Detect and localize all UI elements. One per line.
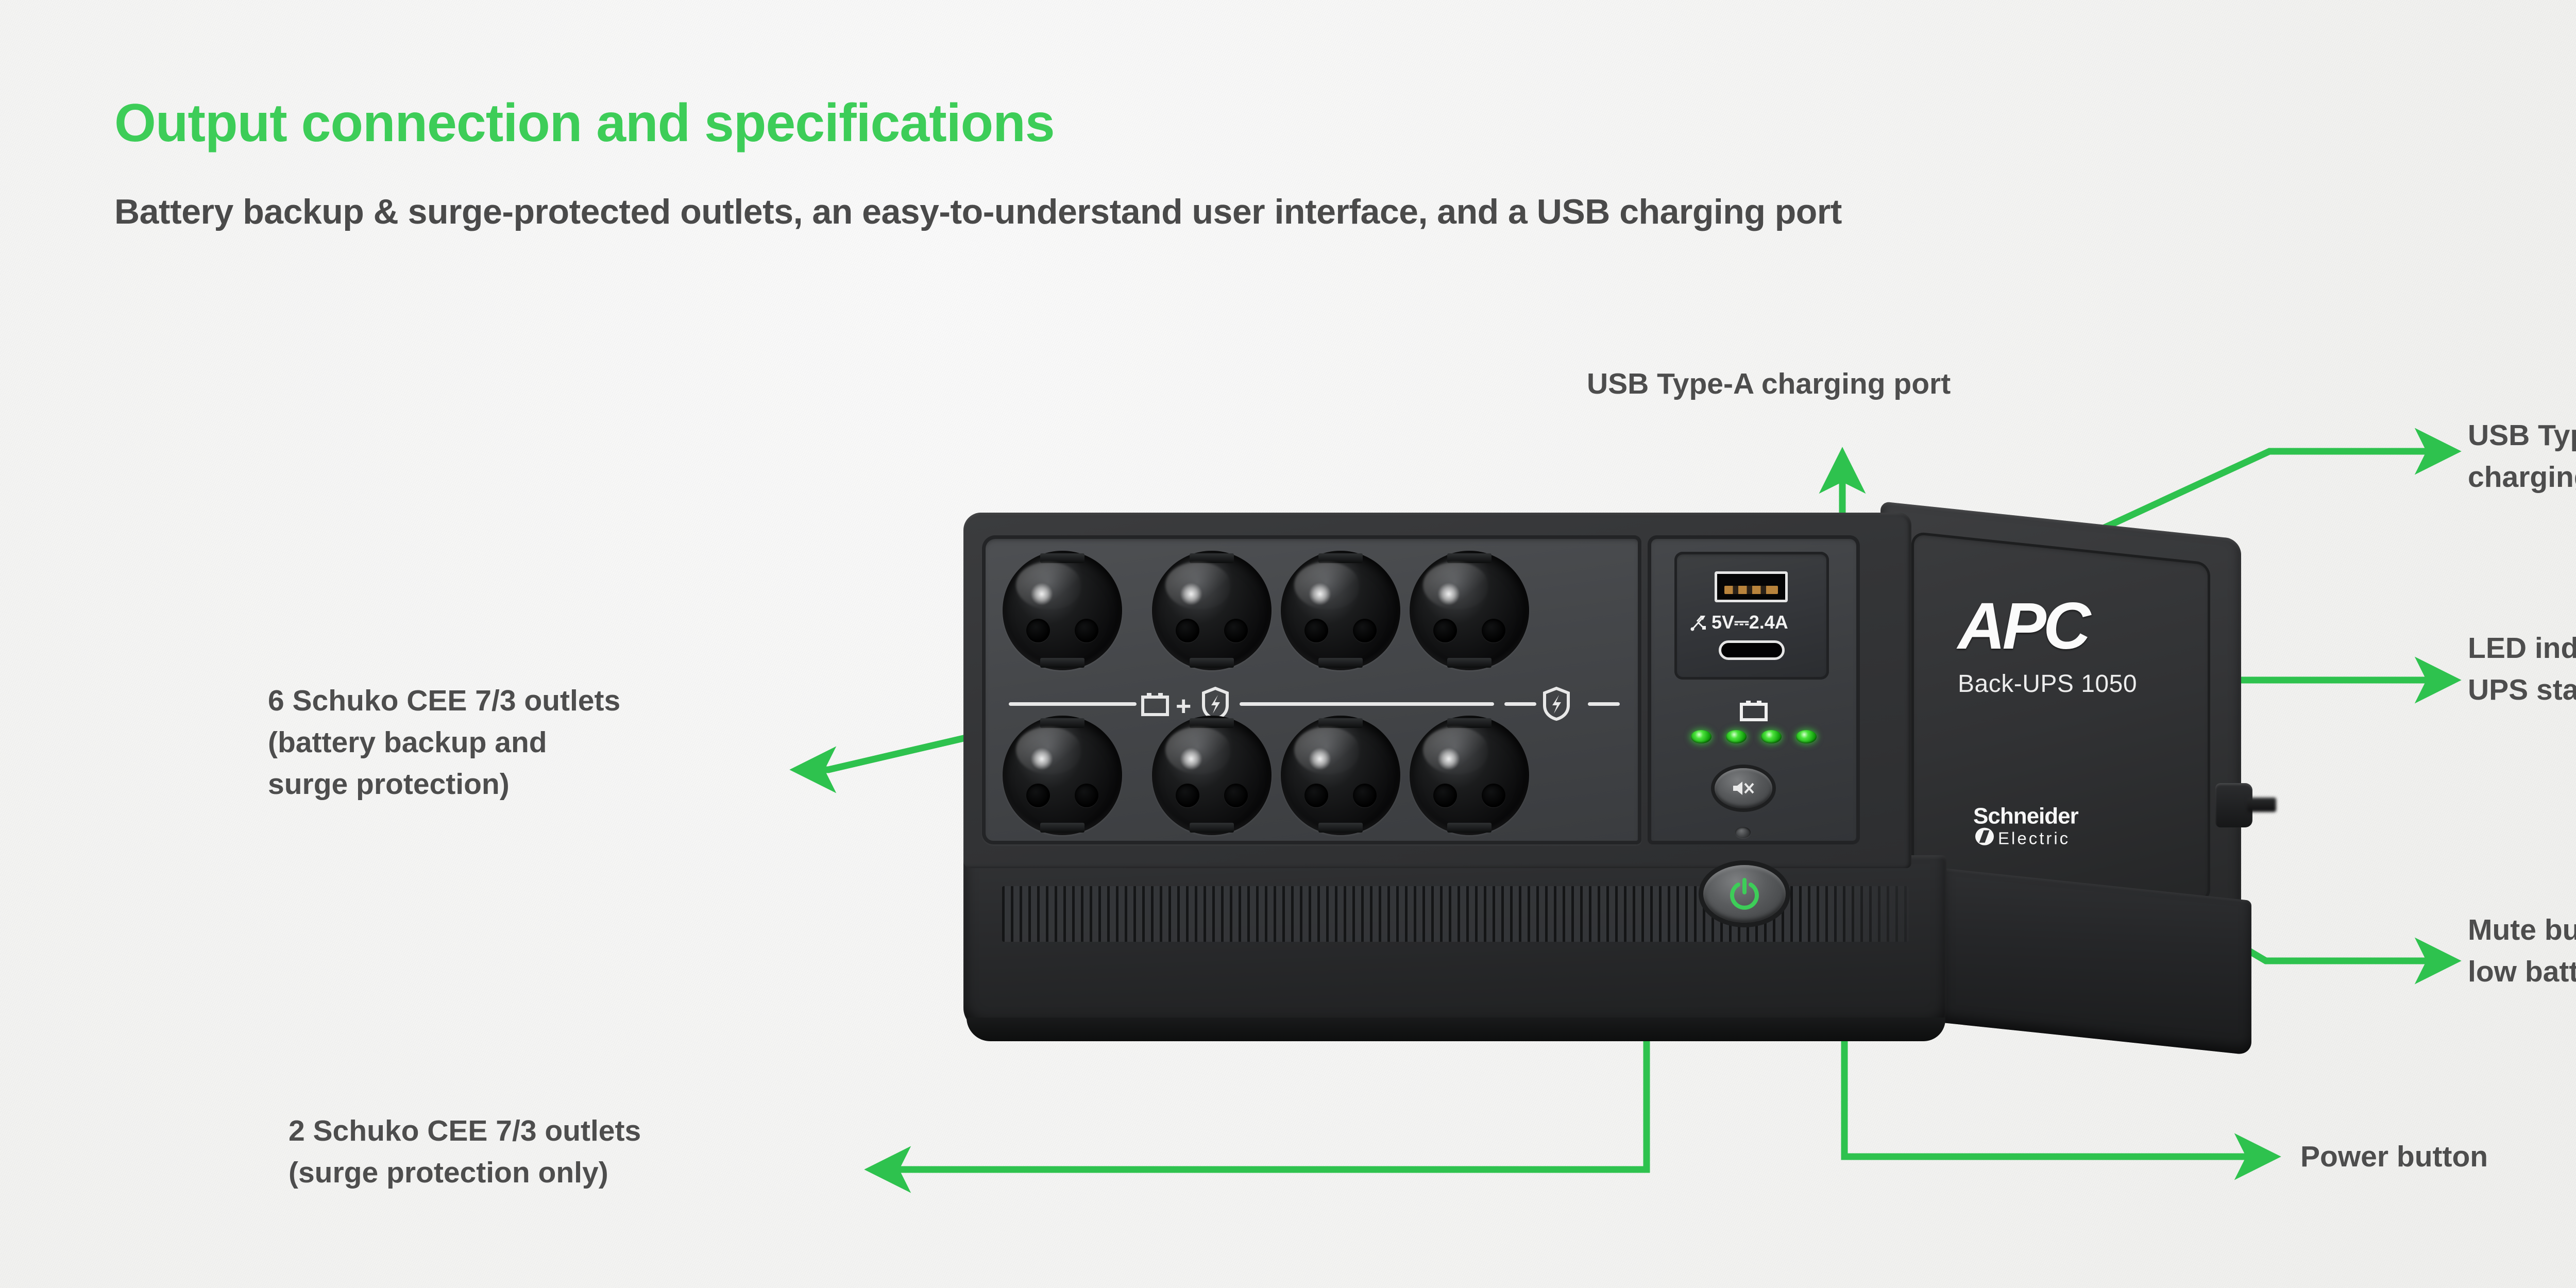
schneider-s-mark bbox=[1975, 828, 1994, 845]
outlet-glint bbox=[1030, 748, 1053, 770]
device-front-face bbox=[963, 855, 1946, 1030]
outlet-row2-4[interactable] bbox=[1410, 716, 1529, 835]
outlet-glint bbox=[1030, 583, 1053, 605]
outlet-glint bbox=[1180, 748, 1202, 770]
device-base bbox=[967, 1018, 1945, 1041]
usb-port-recess: 5V⎓2.4A bbox=[1674, 552, 1829, 680]
outlet-pin-right bbox=[1482, 619, 1505, 642]
outlet-row2-1[interactable] bbox=[1003, 716, 1122, 835]
usb-rating-text: 5V⎓2.4A bbox=[1711, 612, 1788, 634]
usb-type-a-port[interactable] bbox=[1715, 571, 1788, 602]
led-indicator-2 bbox=[1726, 730, 1747, 743]
outlet-pin-left bbox=[1176, 619, 1199, 642]
device-front-face-right bbox=[1942, 868, 2251, 1055]
outlet-pin-right bbox=[1224, 619, 1248, 642]
outlet-pin-left bbox=[1026, 619, 1050, 642]
outlet-plate: + bbox=[982, 535, 1641, 844]
power-button[interactable] bbox=[1703, 865, 1786, 923]
annotation-usb-type-c: USB Type-C charging port bbox=[2468, 415, 2576, 498]
divider-line-segment bbox=[1588, 702, 1620, 706]
device-top-deck: + bbox=[963, 513, 1911, 868]
outlet-pin-right bbox=[1224, 784, 1248, 807]
outlet-pin-right bbox=[1482, 784, 1505, 807]
battery-icon bbox=[1141, 691, 1170, 717]
control-panel: 5V⎓2.4A bbox=[1648, 535, 1860, 844]
led-indicator-3 bbox=[1761, 730, 1782, 743]
outlet-pin-right bbox=[1075, 784, 1098, 807]
outlet-row1-4[interactable] bbox=[1410, 551, 1529, 670]
outlet-pin-left bbox=[1304, 619, 1328, 642]
outlet-pin-right bbox=[1353, 784, 1377, 807]
led-indicator-4 bbox=[1796, 730, 1817, 743]
mute-button[interactable] bbox=[1715, 768, 1772, 808]
outlet-group-divider: + bbox=[1009, 686, 1622, 722]
usb-rating-label: 5V⎓2.4A bbox=[1690, 612, 1788, 634]
outlet-pin-left bbox=[1433, 619, 1457, 642]
outlet-pin-right bbox=[1075, 619, 1098, 642]
mute-speaker-icon bbox=[1732, 779, 1755, 797]
annotation-power-button: Power button bbox=[2300, 1136, 2488, 1178]
ups-device: APC Back-UPS 1050 Schneider Electric bbox=[963, 513, 2375, 1095]
outlet-row2-3[interactable] bbox=[1281, 716, 1400, 835]
divider-line-segment bbox=[1240, 702, 1494, 706]
outlet-glint bbox=[1180, 583, 1202, 605]
led-indicator-1 bbox=[1691, 730, 1711, 743]
power-icon bbox=[1728, 878, 1760, 910]
model-label: Back-UPS 1050 bbox=[1958, 670, 2137, 698]
annotation-outlets-backup: 6 Schuko CEE 7/3 outlets (battery backup… bbox=[268, 680, 620, 805]
outlet-row1-1[interactable] bbox=[1003, 551, 1122, 670]
annotation-mute-button: Mute button to silent low battery alarm bbox=[2468, 909, 2576, 993]
annotation-outlets-surge: 2 Schuko CEE 7/3 outlets (surge protecti… bbox=[289, 1110, 641, 1194]
annotation-usb-type-a: USB Type-A charging port bbox=[1587, 363, 1951, 405]
usb-a-contacts bbox=[1724, 586, 1778, 594]
plus-sign: + bbox=[1176, 693, 1191, 720]
led-indicator-row bbox=[1691, 730, 1817, 743]
outlet-pin-left bbox=[1304, 784, 1328, 807]
status-led-small bbox=[1735, 827, 1751, 838]
outlet-row2-2[interactable] bbox=[1152, 716, 1272, 835]
outlet-row1-3[interactable] bbox=[1281, 551, 1400, 670]
outlet-pin-left bbox=[1026, 784, 1050, 807]
usb-trident-icon bbox=[1690, 614, 1707, 632]
outlet-glint bbox=[1437, 748, 1460, 770]
outlet-pin-left bbox=[1433, 784, 1457, 807]
outlet-pin-left bbox=[1176, 784, 1199, 807]
divider-line-segment bbox=[1009, 702, 1137, 706]
schneider-wordmark: Schneider bbox=[1973, 805, 2078, 828]
schneider-electric-logo: Schneider Electric bbox=[1973, 805, 2078, 847]
brand-text-group: APC Back-UPS 1050 bbox=[1958, 594, 2137, 698]
outlet-glint bbox=[1437, 583, 1460, 605]
divider-line-segment bbox=[1504, 702, 1536, 706]
outlet-glint bbox=[1309, 748, 1331, 770]
outlet-glint bbox=[1309, 583, 1331, 605]
power-cord-nub bbox=[2215, 783, 2252, 827]
battery-status-icon bbox=[1739, 699, 1768, 722]
usb-type-c-port[interactable] bbox=[1719, 640, 1785, 660]
annotation-led-indicators: LED indicators for UPS status bbox=[2468, 628, 2576, 711]
surge-shield-icon bbox=[1543, 687, 1570, 721]
outlet-row1-2[interactable] bbox=[1152, 551, 1272, 670]
page-subtitle: Battery backup & surge-protected outlets… bbox=[114, 192, 1842, 232]
page-title: Output connection and specifications bbox=[114, 93, 1055, 154]
poster-canvas: Output connection and specifications Bat… bbox=[0, 0, 2576, 1288]
apc-logo: APC bbox=[1958, 594, 2137, 659]
electric-wordmark: Electric bbox=[1998, 830, 2078, 847]
outlet-pin-right bbox=[1353, 619, 1377, 642]
